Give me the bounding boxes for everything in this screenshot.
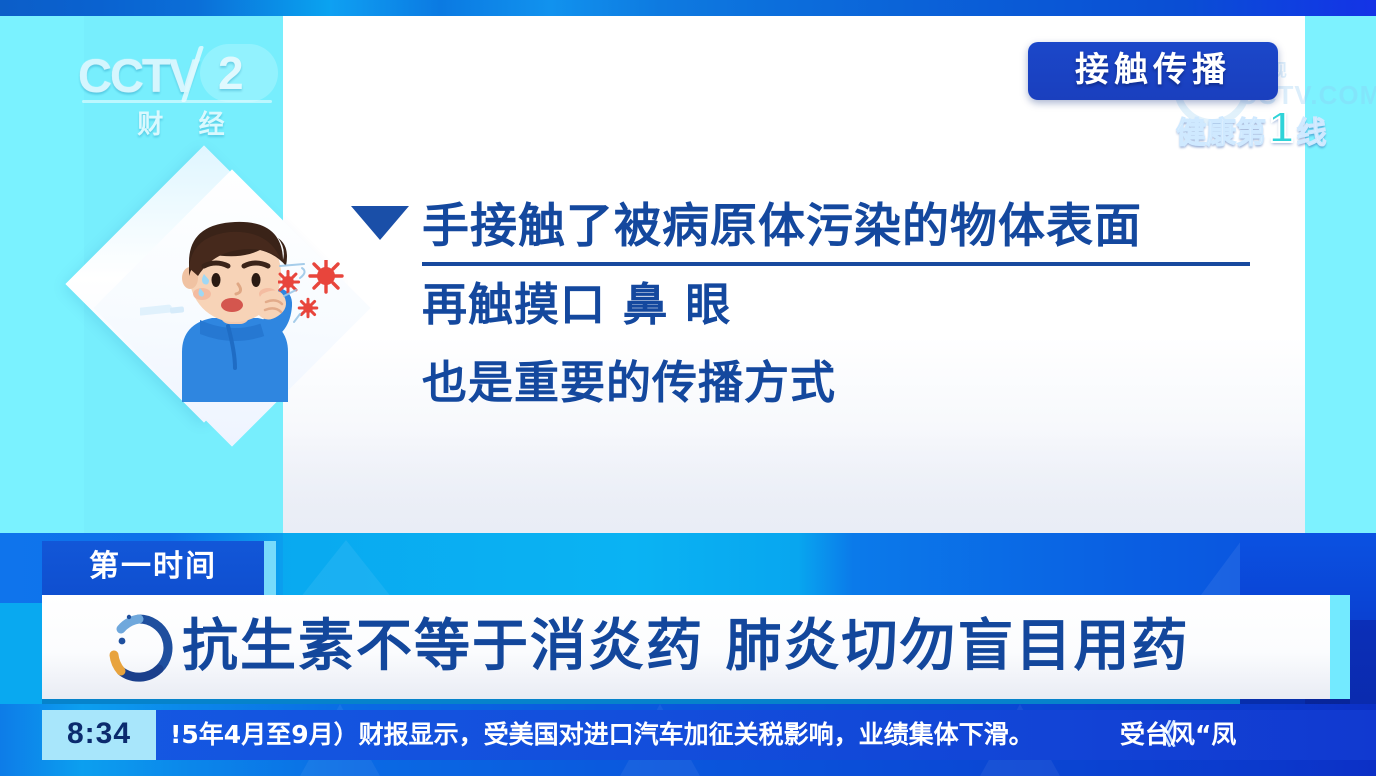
- program-logo: 健康第 1 线: [1176, 108, 1326, 152]
- topic-badge: 接触传播: [1028, 42, 1278, 100]
- right-cyan-field: [1305, 16, 1376, 533]
- left-cyan-field-outer: [0, 16, 84, 533]
- clock-time: 8:34: [42, 710, 156, 760]
- program-logo-highlight: 1: [1269, 103, 1293, 153]
- program-logo-part1: 健康第: [1176, 108, 1266, 152]
- program-logo-part2: 线: [1296, 108, 1326, 152]
- content-panel-shade: [283, 430, 1305, 533]
- category-tab[interactable]: 第一时间: [42, 541, 264, 595]
- ticker-text-next[interactable]: 受台风“凤: [1120, 710, 1236, 760]
- triangle-down-icon: [351, 206, 409, 240]
- topic-badge-label: 接触传播: [1028, 42, 1278, 100]
- cctv-underline: [82, 100, 272, 103]
- illustration-block: [88, 168, 358, 438]
- main-line-1: 手接触了被病原体污染的物体表面: [422, 196, 1282, 258]
- cctv-channel-number: 2: [218, 46, 244, 100]
- main-message-block: 手接触了被病原体污染的物体表面 再触摸口 鼻 眼 也是重要的传播方式: [422, 196, 1282, 412]
- virus-particles-icon: [278, 260, 368, 340]
- circular-arc-logo-icon: [100, 609, 178, 687]
- clock-badge: 8:34: [42, 710, 156, 760]
- main-line-3: 也是重要的传播方式: [422, 354, 1282, 412]
- underline-divider: [422, 262, 1250, 266]
- cctv-channel-logo: CCTV 2 财 经: [78, 48, 288, 148]
- lower-headline: 抗生素不等于消炎药 肺炎切勿盲目用药: [182, 604, 1190, 690]
- main-line-2: 再触摸口 鼻 眼: [422, 276, 1282, 334]
- ticker-text[interactable]: !5年4月至9月）财报显示，受美国对进口汽车加征关税影响，业绩集体下滑。: [170, 710, 1034, 760]
- headline-bar-accent: [1330, 595, 1350, 699]
- decor-triangle-left: [300, 540, 392, 598]
- category-tab-accent: [264, 541, 276, 595]
- category-tab-label: 第一时间: [42, 541, 264, 595]
- broadcast-screen: CCTV 2 财 经: [0, 0, 1376, 776]
- cctv-wordmark: CCTV: [78, 48, 198, 103]
- cctv-category-label: 财 经: [118, 104, 258, 141]
- top-gradient-strip: [0, 0, 1376, 16]
